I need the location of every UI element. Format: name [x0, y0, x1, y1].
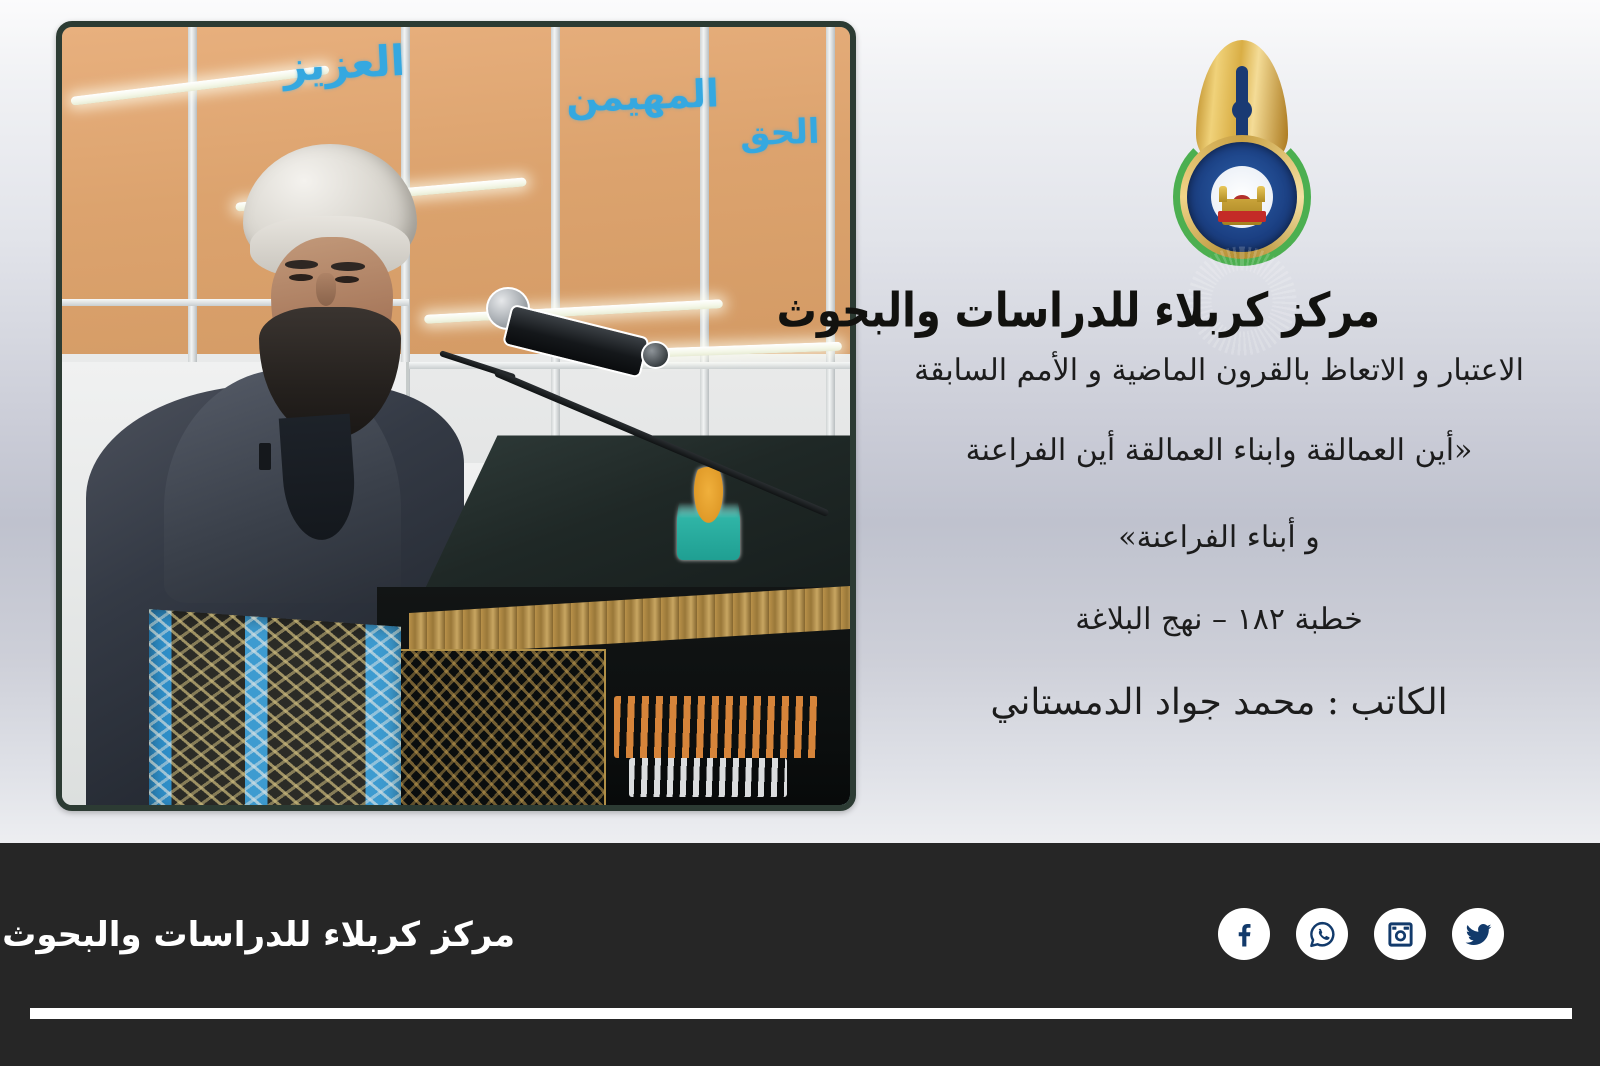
twitter-link[interactable]	[1452, 908, 1504, 960]
twitter-icon	[1463, 919, 1494, 950]
facebook-icon	[1229, 919, 1259, 949]
instagram-link[interactable]	[1374, 908, 1426, 960]
poster-canvas: العزيز المهيمن الحق	[0, 0, 1600, 843]
article-text-block: الاعتبار و الاتعاظ بالقرون الماضية و الأ…	[848, 352, 1590, 726]
logo-calligraphy-text: مركز كربلاء للدراسات والبحوث	[1104, 284, 1380, 338]
speaker-nose	[316, 273, 336, 306]
whatsapp-icon	[1307, 919, 1338, 950]
podium-gold-inscription	[614, 696, 819, 758]
podium-white-inscription	[629, 758, 787, 797]
article-photo: العزيز المهيمن الحق	[56, 21, 856, 811]
article-author: الكاتب : محمد جواد الدمستاني	[848, 680, 1590, 726]
pen-nib-dot	[1232, 100, 1252, 120]
article-title: الاعتبار و الاتعاظ بالقرون الماضية و الأ…	[848, 352, 1590, 390]
speaker-brow	[331, 262, 364, 271]
speaker-brow	[285, 260, 318, 269]
backdrop-calligraphy: المهيمن	[566, 71, 720, 120]
backdrop-calligraphy: العزيز	[281, 35, 405, 90]
podium-drape-cloth	[149, 609, 401, 805]
backdrop-calligraphy: الحق	[739, 111, 820, 154]
organization-logo: مركز كربلاء للدراسات والبحوث	[1104, 38, 1380, 328]
speaker-eye	[335, 276, 359, 283]
whatsapp-link[interactable]	[1296, 908, 1348, 960]
footer-white-rule	[30, 1008, 1572, 1019]
article-quote-line-1: «أين العمالقة وابناء العمالقة أين الفراع…	[848, 432, 1590, 470]
logo-blue-seal	[1187, 142, 1297, 252]
mic-tip	[641, 341, 669, 369]
article-source: خطبة ١٨٢ – نهج البلاغة	[848, 601, 1590, 639]
footer-organization-name: مركز كربلاء للدراسات والبحوث	[2, 915, 515, 955]
logo-red-label	[1218, 211, 1266, 222]
podium-gold-panel	[377, 649, 606, 805]
photo-content: العزيز المهيمن الحق	[62, 27, 850, 805]
instagram-icon	[1386, 920, 1415, 949]
lapel-mic-clip	[259, 443, 271, 470]
article-quote-line-2: و أبناء الفراعنة»	[848, 519, 1590, 557]
social-links	[1218, 908, 1504, 960]
facebook-link[interactable]	[1218, 908, 1270, 960]
